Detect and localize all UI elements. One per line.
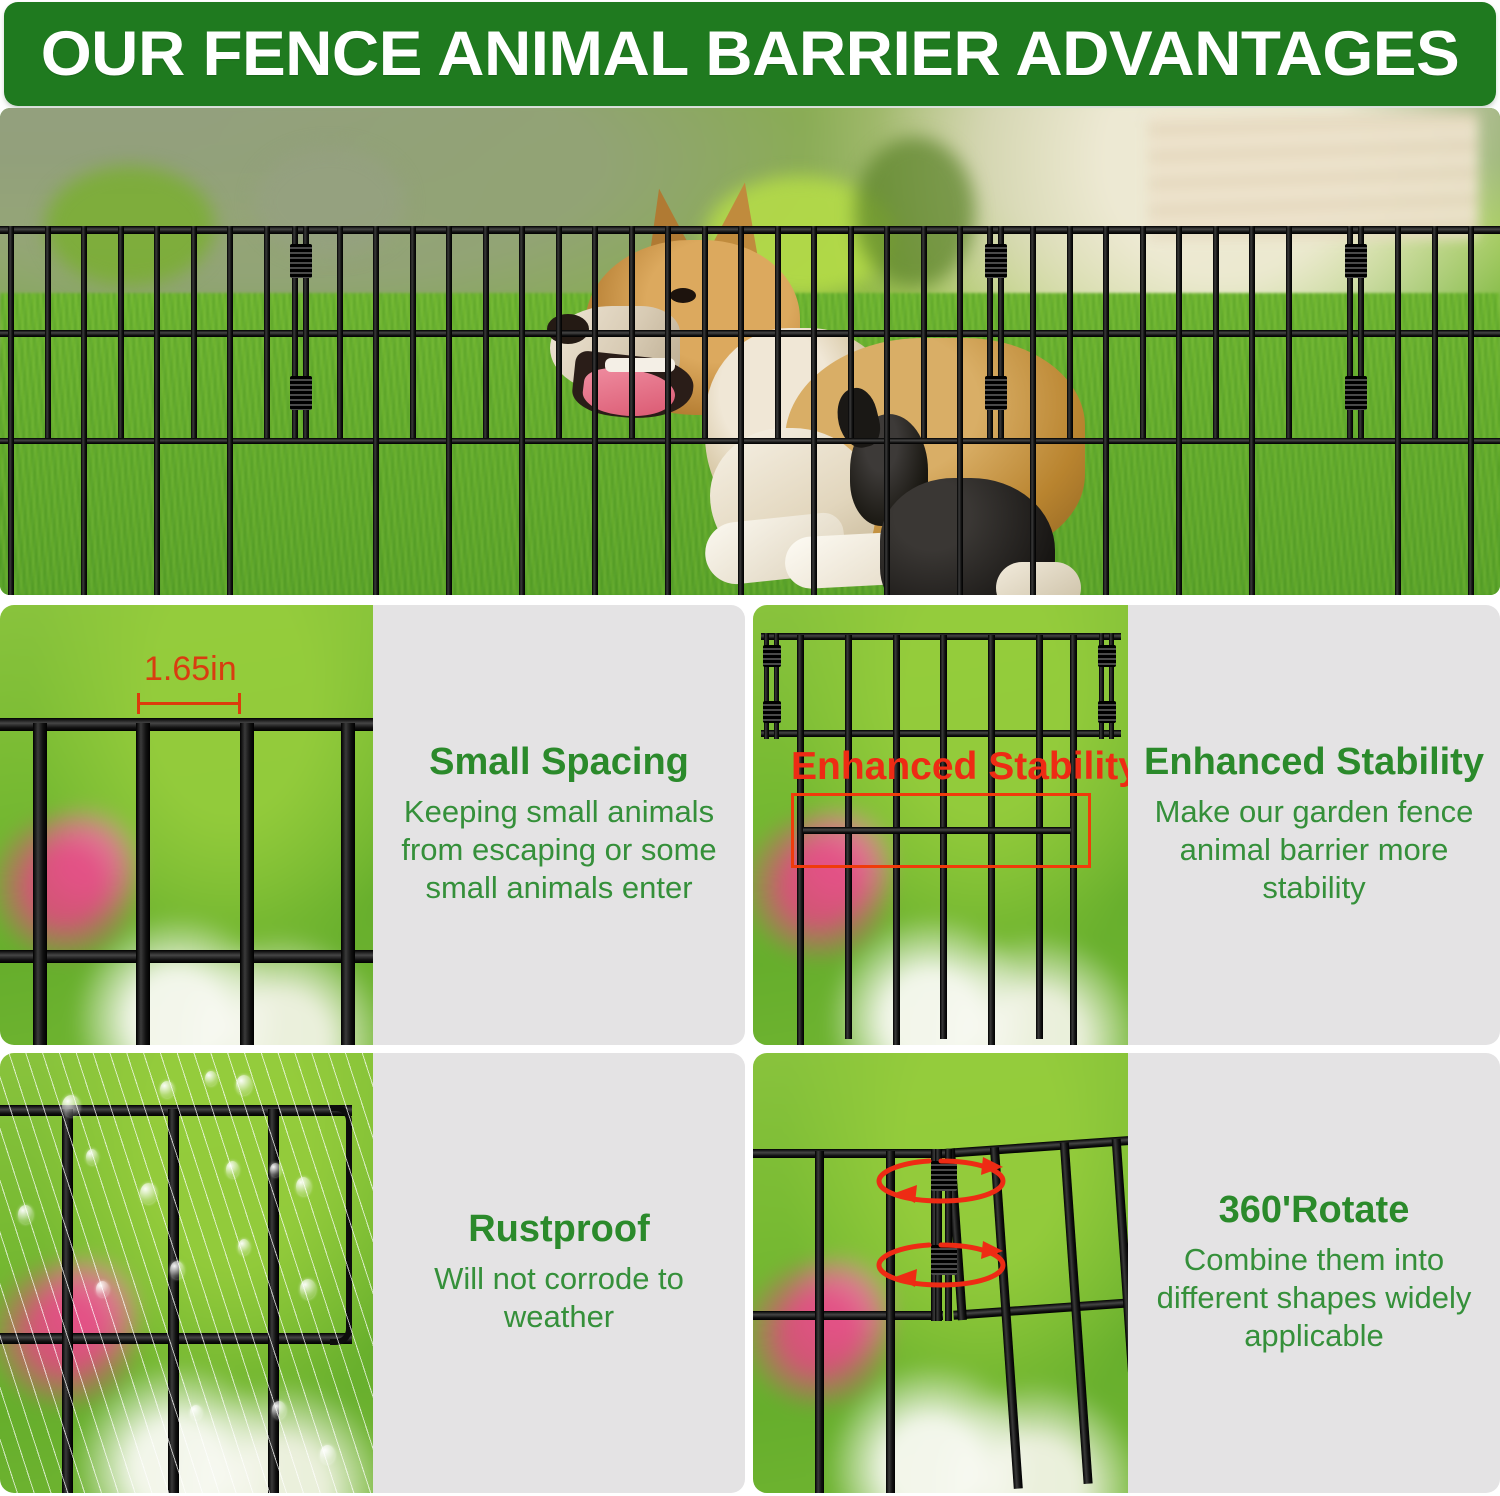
fence-vertical-bar xyxy=(154,226,160,595)
card-title: Enhanced Stability xyxy=(1144,743,1484,783)
fence-vertical-bar xyxy=(1468,226,1474,595)
card-rustproof: Rustproof Will not corrode to weather xyxy=(0,1053,745,1493)
card-enhanced-stability: Enhanced Stability Enhanced Stability Ma… xyxy=(753,605,1500,1045)
fence-connector xyxy=(763,633,781,739)
fence-vertical-bar xyxy=(1176,226,1182,595)
card-small-spacing: 1.65in Small Spacing Keeping small anima… xyxy=(0,605,745,1045)
stability-highlight-box xyxy=(791,793,1091,868)
fence-vertical-bar xyxy=(775,226,781,438)
fence-vertical-bar xyxy=(45,226,51,438)
enhanced-stability-copy: Enhanced Stability Make our garden fence… xyxy=(1128,605,1500,1045)
fence-vertical-bar xyxy=(921,226,927,438)
fence-vertical-bar xyxy=(1213,226,1219,438)
fence-vertical-bar xyxy=(957,226,963,595)
fence-vertical-bar xyxy=(483,226,489,438)
small-spacing-photo: 1.65in xyxy=(0,605,373,1045)
fence-vertical-bar xyxy=(118,226,124,438)
infographic-page: OUR FENCE ANIMAL BARRIER ADVANTAGES xyxy=(0,0,1500,1496)
card-title: Small Spacing xyxy=(429,743,689,783)
fence-vertical-bar xyxy=(811,226,817,595)
fence-vertical-bar xyxy=(227,226,233,595)
fence-connector xyxy=(290,226,312,438)
rustproof-copy: Rustproof Will not corrode to weather xyxy=(373,1053,745,1493)
fence-vertical-bar xyxy=(884,226,890,595)
card-body: Keeping small animals from escaping or s… xyxy=(387,793,731,906)
fence-vertical-bar xyxy=(1249,226,1255,595)
rotation-arrow-bottom-icon xyxy=(871,1235,1011,1293)
fence-vertical-bar xyxy=(1030,226,1036,595)
fence-vertical-bar xyxy=(738,226,744,595)
dimension-label: 1.65in xyxy=(144,650,237,689)
fence-vertical-bar xyxy=(8,226,14,595)
enhanced-stability-photo: Enhanced Stability xyxy=(753,605,1128,1045)
fence-vertical-bar xyxy=(665,226,671,595)
fence-vertical-bar xyxy=(1286,226,1292,438)
card-title: 360'Rotate xyxy=(1219,1191,1410,1231)
header-banner: OUR FENCE ANIMAL BARRIER ADVANTAGES xyxy=(4,2,1496,106)
fence-vertical-bar xyxy=(702,226,708,438)
card-title: Rustproof xyxy=(468,1210,650,1250)
fence-vertical-bar xyxy=(337,226,343,438)
fence-vertical-bar xyxy=(81,226,87,595)
fence-vertical-bar xyxy=(1103,226,1109,595)
fence-vertical-bar xyxy=(519,226,525,595)
fence-vertical-bar xyxy=(592,226,598,595)
fence-vertical-bar xyxy=(264,226,270,438)
card-body: Make our garden fence animal barrier mor… xyxy=(1142,793,1486,906)
fence-vertical-bar xyxy=(1067,226,1073,438)
card-body: Will not corrode to weather xyxy=(387,1260,731,1336)
fence-vertical-bar xyxy=(629,226,635,438)
fence-connector xyxy=(1098,633,1116,739)
fence-vertical-bar xyxy=(848,226,854,438)
fence-vertical-bar xyxy=(410,226,416,438)
fence-vertical-bar xyxy=(1395,226,1401,595)
rustproof-photo xyxy=(0,1053,373,1493)
hero-fence xyxy=(0,108,1500,595)
fence-connector xyxy=(985,226,1007,438)
stability-annotation-label: Enhanced Stability xyxy=(791,745,1128,789)
small-spacing-copy: Small Spacing Keeping small animals from… xyxy=(373,605,745,1045)
fence-vertical-bar xyxy=(1432,226,1438,438)
rain-overlay xyxy=(0,1053,373,1493)
fence-vertical-bar xyxy=(373,226,379,595)
rotation-arrow-top-icon xyxy=(871,1151,1011,1209)
page-title: OUR FENCE ANIMAL BARRIER ADVANTAGES xyxy=(41,18,1459,90)
card-body: Combine them into different shapes widel… xyxy=(1142,1241,1486,1354)
fence-connector xyxy=(1345,226,1367,438)
card-360-rotate: 360'Rotate Combine them into different s… xyxy=(753,1053,1500,1493)
fence-vertical-bar xyxy=(446,226,452,595)
rotate-photo xyxy=(753,1053,1128,1493)
rotate-copy: 360'Rotate Combine them into different s… xyxy=(1128,1053,1500,1493)
hero-photo xyxy=(0,108,1500,595)
fence-vertical-bar xyxy=(556,226,562,438)
fence-vertical-bar xyxy=(1140,226,1146,438)
fence-vertical-bar xyxy=(191,226,197,438)
